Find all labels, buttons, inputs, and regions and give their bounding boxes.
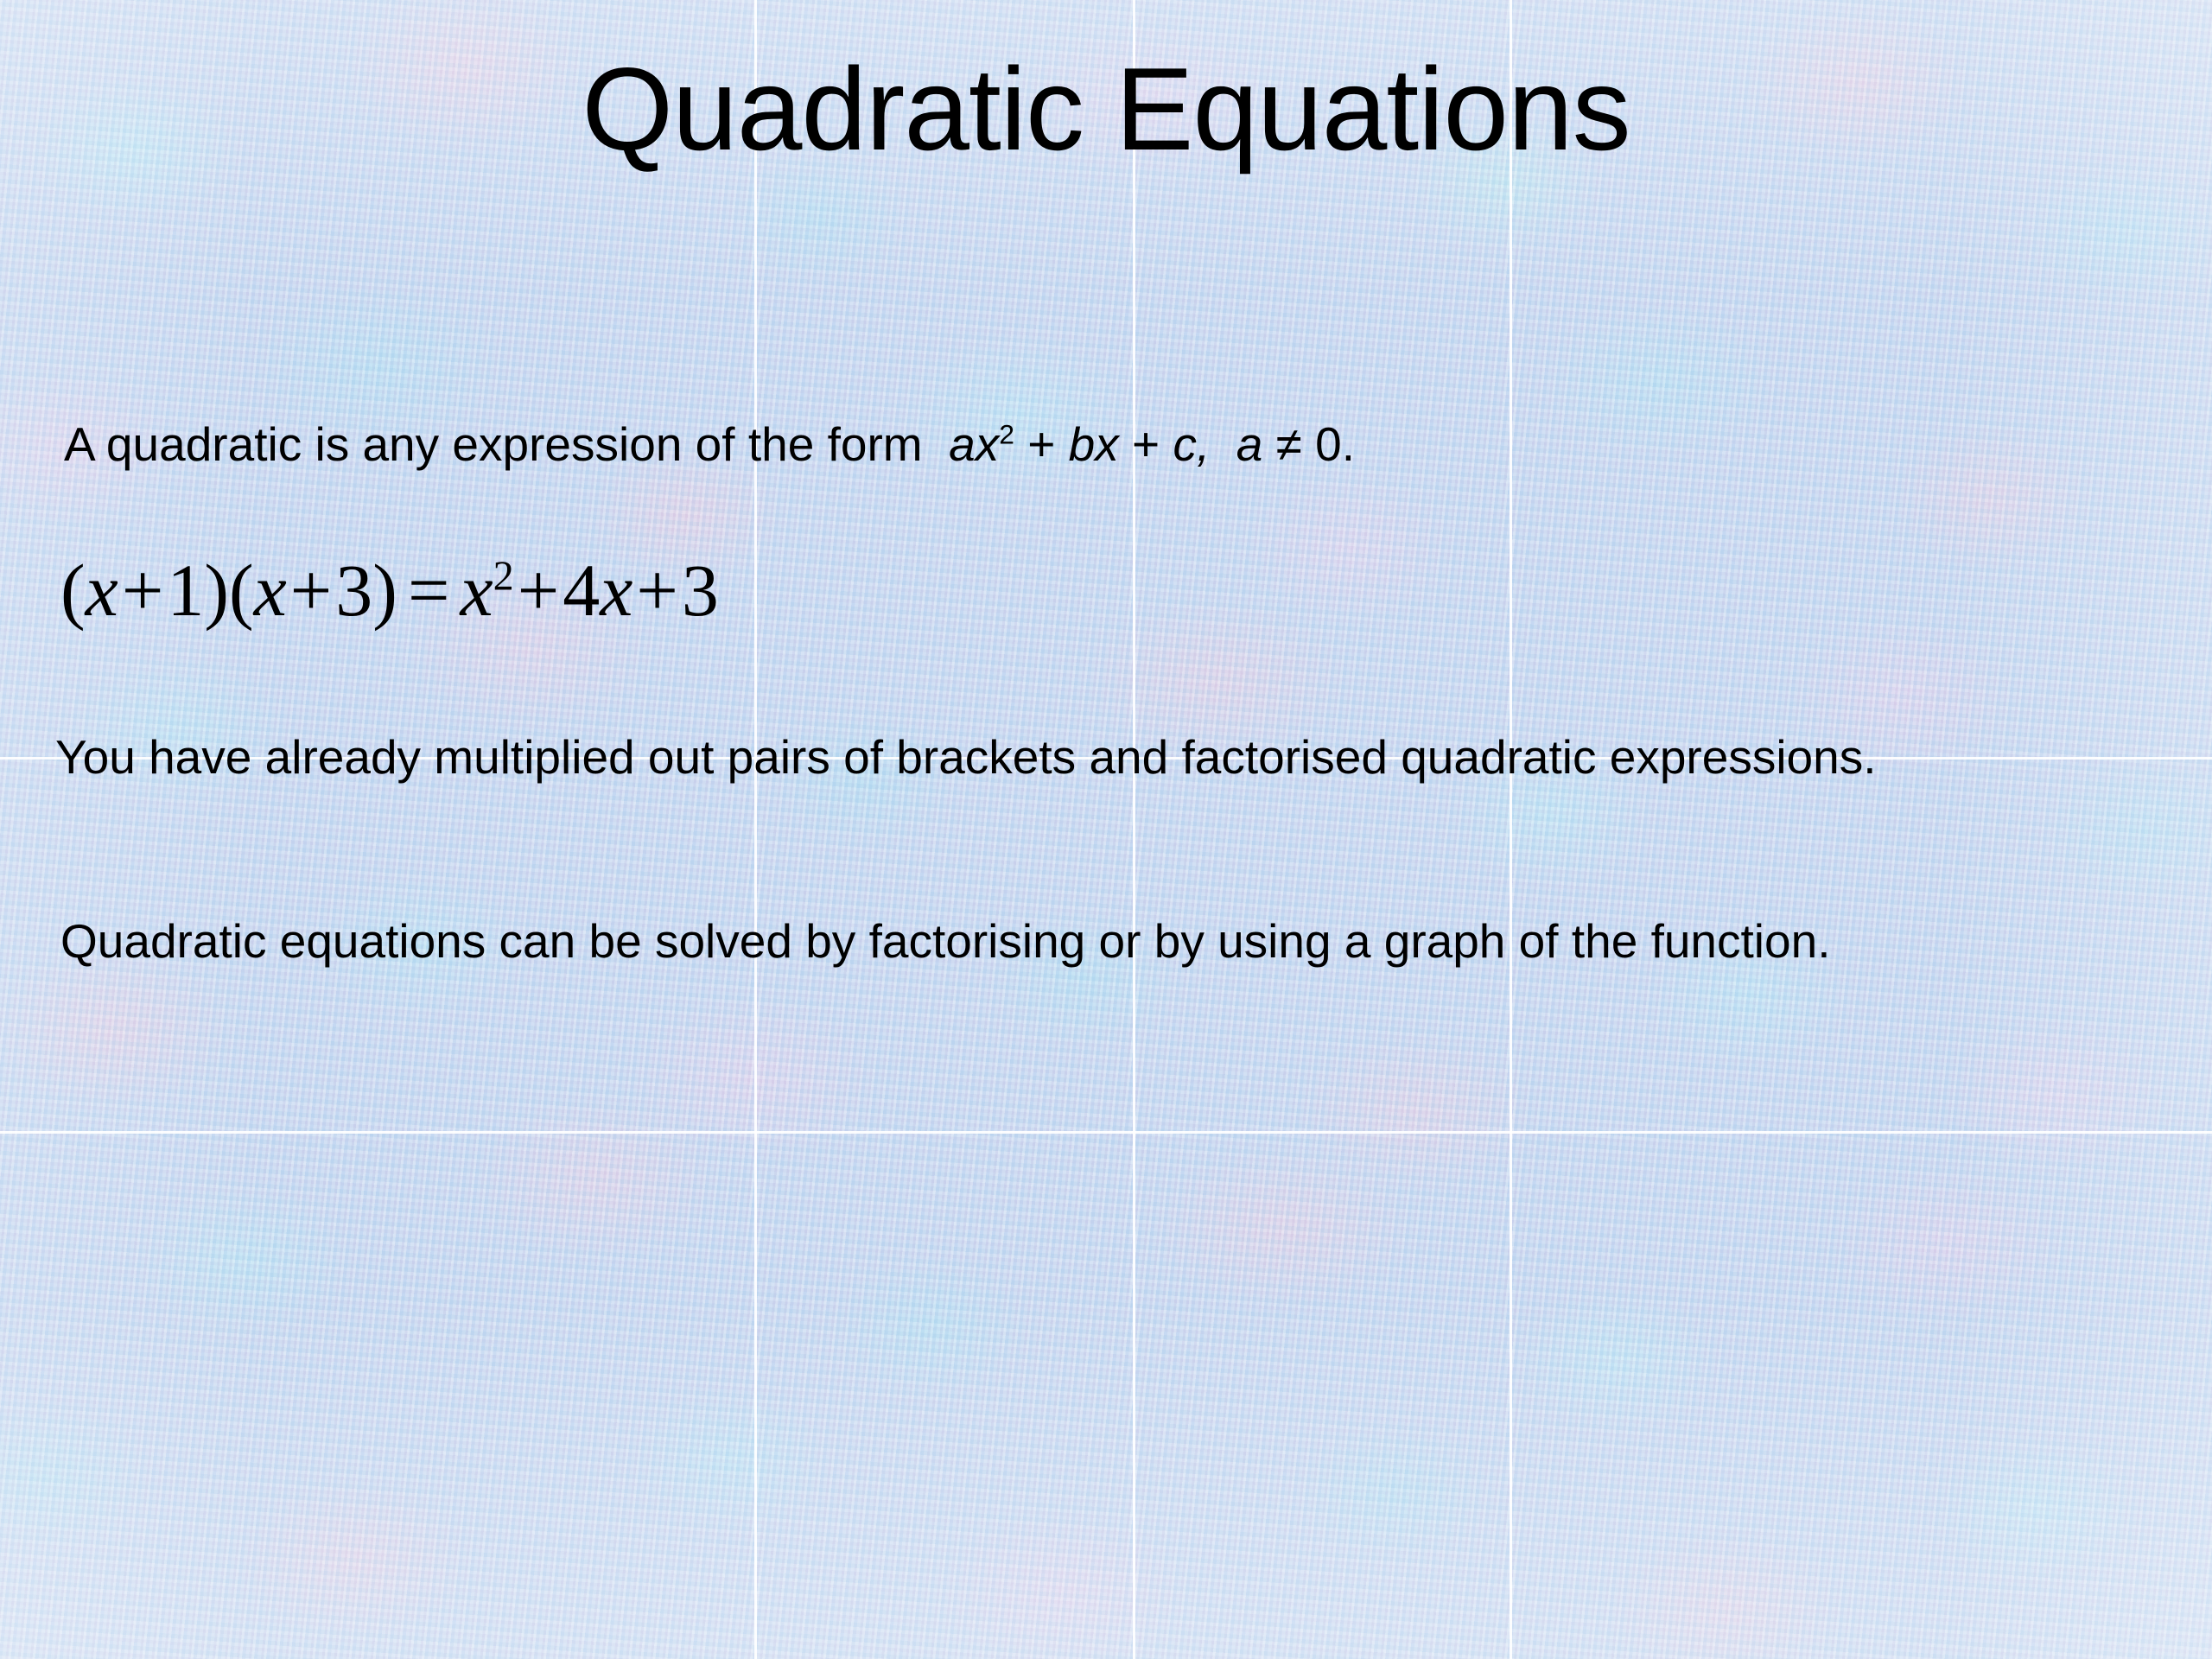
equation-coefficient-4: 4 — [563, 549, 600, 632]
slide-title: Quadratic Equations — [0, 50, 2212, 168]
math-term-c: c, — [1173, 417, 1210, 471]
equation-number-3: 3 — [335, 549, 372, 632]
equation-close-paren-1: ) — [204, 549, 229, 632]
solving-methods-line: Quadratic equations can be solved by fac… — [60, 914, 1830, 969]
equation-close-paren-2: ) — [372, 549, 397, 632]
equation-operator-plus-3: + — [514, 549, 563, 632]
math-exponent-2: 2 — [999, 419, 1014, 450]
equation-exponent-2: 2 — [493, 553, 514, 599]
equation-variable-x-4: x — [600, 549, 632, 632]
equation-equals-sign: = — [397, 549, 461, 632]
equation-operator-plus-4: + — [632, 549, 682, 632]
definition-line: A quadratic is any expression of the for… — [64, 417, 1355, 472]
equation-variable-x-1: x — [86, 549, 118, 632]
math-operator-plus-1: + — [1027, 417, 1055, 471]
presentation-slide: Quadratic Equations A quadratic is any e… — [0, 0, 2212, 1659]
equation-number-1: 1 — [167, 549, 204, 632]
equation-open-paren-1: ( — [60, 549, 86, 632]
math-term-a: a — [1236, 417, 1263, 471]
equation-operator-plus-2: + — [287, 549, 336, 632]
definition-prefix: A quadratic is any expression of the for… — [64, 417, 923, 471]
math-operator-not-equal: ≠ — [1276, 417, 1302, 471]
equation-variable-x-3: x — [460, 549, 493, 632]
equation-open-paren-2: ( — [229, 549, 254, 632]
math-operator-plus-2: + — [1132, 417, 1160, 471]
slide-content: Quadratic Equations A quadratic is any e… — [0, 0, 2212, 1659]
equation-constant-3: 3 — [682, 549, 719, 632]
math-value-zero: 0. — [1315, 417, 1355, 471]
math-term-a-x: ax — [949, 417, 999, 471]
multiplied-out-line: You have already multiplied out pairs of… — [55, 730, 1877, 785]
definition-math-expression: ax2 + bx + c, a ≠ 0. — [949, 417, 1355, 471]
equation-operator-plus-1: + — [118, 549, 168, 632]
equation-variable-x-2: x — [254, 549, 287, 632]
displayed-equation: (x+1)(x+3)=x2+4x+3 — [60, 550, 719, 632]
math-term-b-x: bx — [1069, 417, 1119, 471]
